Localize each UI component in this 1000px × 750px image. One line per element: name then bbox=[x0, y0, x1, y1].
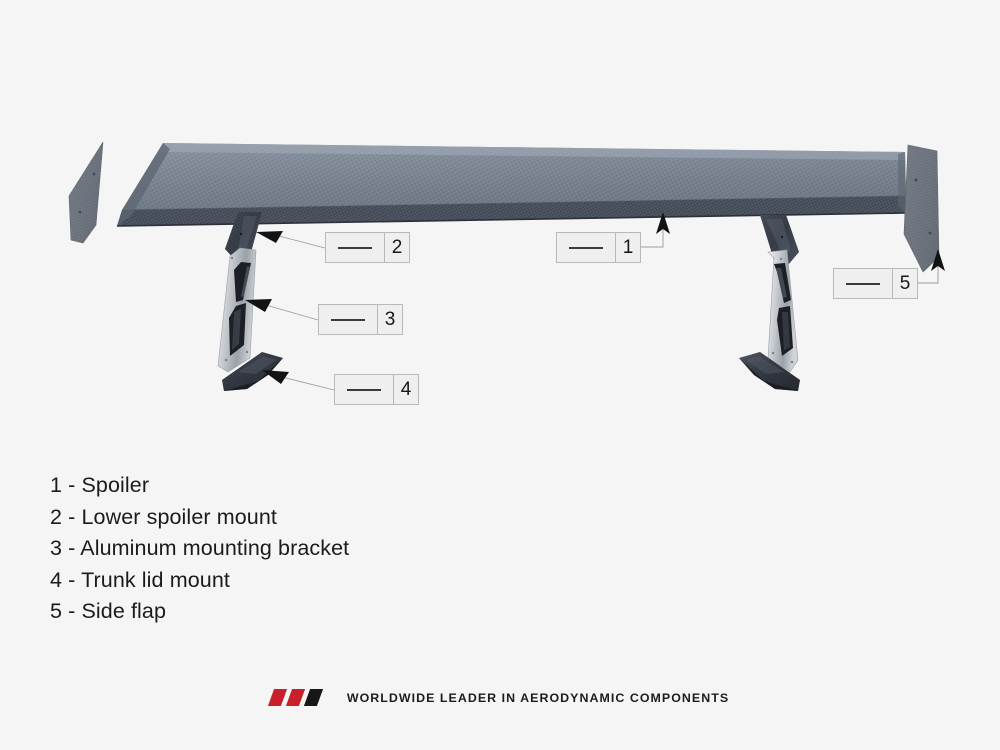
callout-4[interactable]: 4 bbox=[334, 374, 419, 405]
callout-1-dash-cell bbox=[557, 233, 615, 262]
legend-item-2: 2 - Lower spoiler mount bbox=[50, 502, 349, 534]
legend-item-5: 5 - Side flap bbox=[50, 596, 349, 628]
right-support-assembly bbox=[739, 215, 800, 391]
legend-item-3: 3 - Aluminum mounting bracket bbox=[50, 533, 349, 565]
leader-line-2 bbox=[279, 236, 325, 248]
parts-legend: 1 - Spoiler 2 - Lower spoiler mount 3 - … bbox=[50, 470, 349, 628]
footer-tagline: WORLDWIDE LEADER IN AERODYNAMIC COMPONEN… bbox=[347, 691, 729, 705]
footer-bar: WORLDWIDE LEADER IN AERODYNAMIC COMPONEN… bbox=[0, 689, 1000, 706]
brand-slash-logo-icon bbox=[271, 689, 333, 706]
logo-bar-2 bbox=[286, 689, 305, 706]
callout-dash-icon bbox=[338, 247, 372, 249]
arrowhead-2 bbox=[256, 231, 283, 243]
callout-5-number: 5 bbox=[892, 269, 917, 298]
callout-dash-icon bbox=[347, 389, 381, 391]
legend-item-1: 1 - Spoiler bbox=[50, 470, 349, 502]
logo-bar-1 bbox=[268, 689, 287, 706]
callout-2-dash-cell bbox=[326, 233, 384, 262]
logo-bar-3 bbox=[304, 689, 323, 706]
callout-dash-icon bbox=[846, 283, 880, 285]
right-side-flap bbox=[904, 145, 939, 272]
callout-dash-icon bbox=[331, 319, 365, 321]
legend-item-4: 4 - Trunk lid mount bbox=[50, 565, 349, 597]
arrowhead-4 bbox=[262, 370, 289, 384]
callout-3-dash-cell bbox=[319, 305, 377, 334]
leader-line-3 bbox=[266, 305, 318, 320]
left-aluminum-bracket bbox=[218, 248, 256, 372]
left-side-flap bbox=[69, 142, 103, 243]
right-aluminum-bracket bbox=[768, 250, 798, 372]
callout-3[interactable]: 3 bbox=[318, 304, 403, 335]
callout-5[interactable]: 5 bbox=[833, 268, 918, 299]
callout-5-dash-cell bbox=[834, 269, 892, 298]
spoiler-blade bbox=[117, 143, 906, 226]
callout-1-number: 1 bbox=[615, 233, 640, 262]
callout-dash-icon bbox=[569, 247, 603, 249]
spoiler-illustration bbox=[0, 0, 1000, 750]
diagram-canvas: 1 2 3 4 5 1 - Spoiler 2 - Lower spoiler … bbox=[0, 0, 1000, 750]
callout-4-number: 4 bbox=[393, 375, 418, 404]
callout-3-number: 3 bbox=[377, 305, 402, 334]
callout-1[interactable]: 1 bbox=[556, 232, 641, 263]
callout-2[interactable]: 2 bbox=[325, 232, 410, 263]
leader-line-4 bbox=[282, 377, 334, 390]
callout-4-dash-cell bbox=[335, 375, 393, 404]
callout-2-number: 2 bbox=[384, 233, 409, 262]
